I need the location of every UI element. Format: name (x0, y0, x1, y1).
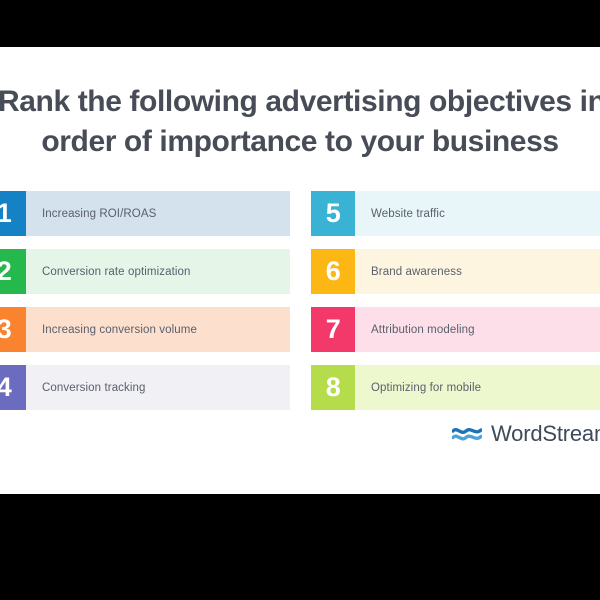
rank-bar-1: Increasing ROI/ROAS (26, 191, 290, 236)
rank-bar-2: Conversion rate optimization (26, 249, 290, 294)
ranked-column-left: 1 Increasing ROI/ROAS 2 Conversion rate … (0, 191, 290, 423)
rank-label-2: Conversion rate optimization (42, 266, 191, 278)
slide-screenshot: Rank the following advertising objective… (0, 0, 600, 600)
page-title-line-2: order of importance to your business (0, 122, 600, 162)
rank-bar-7: Attribution modeling (355, 307, 600, 352)
rank-bar-8: Optimizing for mobile (355, 365, 600, 410)
rank-label-4: Conversion tracking (42, 382, 146, 394)
page-title-line-1: Rank the following advertising objective… (0, 82, 600, 122)
list-item[interactable]: 5 Website traffic (311, 191, 600, 236)
rank-label-6: Brand awareness (371, 266, 462, 278)
rank-label-5: Website traffic (371, 208, 445, 220)
rank-label-8: Optimizing for mobile (371, 382, 481, 394)
letterbox-bottom (0, 494, 600, 600)
rank-bar-4: Conversion tracking (26, 365, 290, 410)
rank-badge-4: 4 (0, 365, 26, 410)
rank-badge-3: 3 (0, 307, 26, 352)
list-item[interactable]: 4 Conversion tracking (0, 365, 290, 410)
slide-canvas: Rank the following advertising objective… (0, 47, 600, 494)
rank-badge-6: 6 (311, 249, 355, 294)
wave-logo-icon (452, 424, 482, 444)
letterbox-top (0, 0, 600, 47)
rank-bar-5: Website traffic (355, 191, 600, 236)
rank-label-1: Increasing ROI/ROAS (42, 208, 156, 220)
rank-label-7: Attribution modeling (371, 324, 475, 336)
list-item[interactable]: 8 Optimizing for mobile (311, 365, 600, 410)
rank-badge-5: 5 (311, 191, 355, 236)
brand-name: WordStream (491, 423, 600, 445)
list-item[interactable]: 2 Conversion rate optimization (0, 249, 290, 294)
list-item[interactable]: 6 Brand awareness (311, 249, 600, 294)
ranked-column-right: 5 Website traffic 6 Brand awareness 7 At… (311, 191, 600, 423)
brand-logo: WordStream (452, 423, 600, 445)
rank-bar-6: Brand awareness (355, 249, 600, 294)
rank-badge-2: 2 (0, 249, 26, 294)
rank-label-3: Increasing conversion volume (42, 324, 197, 336)
list-item[interactable]: 1 Increasing ROI/ROAS (0, 191, 290, 236)
rank-badge-7: 7 (311, 307, 355, 352)
list-item[interactable]: 7 Attribution modeling (311, 307, 600, 352)
list-item[interactable]: 3 Increasing conversion volume (0, 307, 290, 352)
page-title: Rank the following advertising objective… (0, 82, 600, 162)
rank-badge-8: 8 (311, 365, 355, 410)
rank-bar-3: Increasing conversion volume (26, 307, 290, 352)
rank-badge-1: 1 (0, 191, 26, 236)
